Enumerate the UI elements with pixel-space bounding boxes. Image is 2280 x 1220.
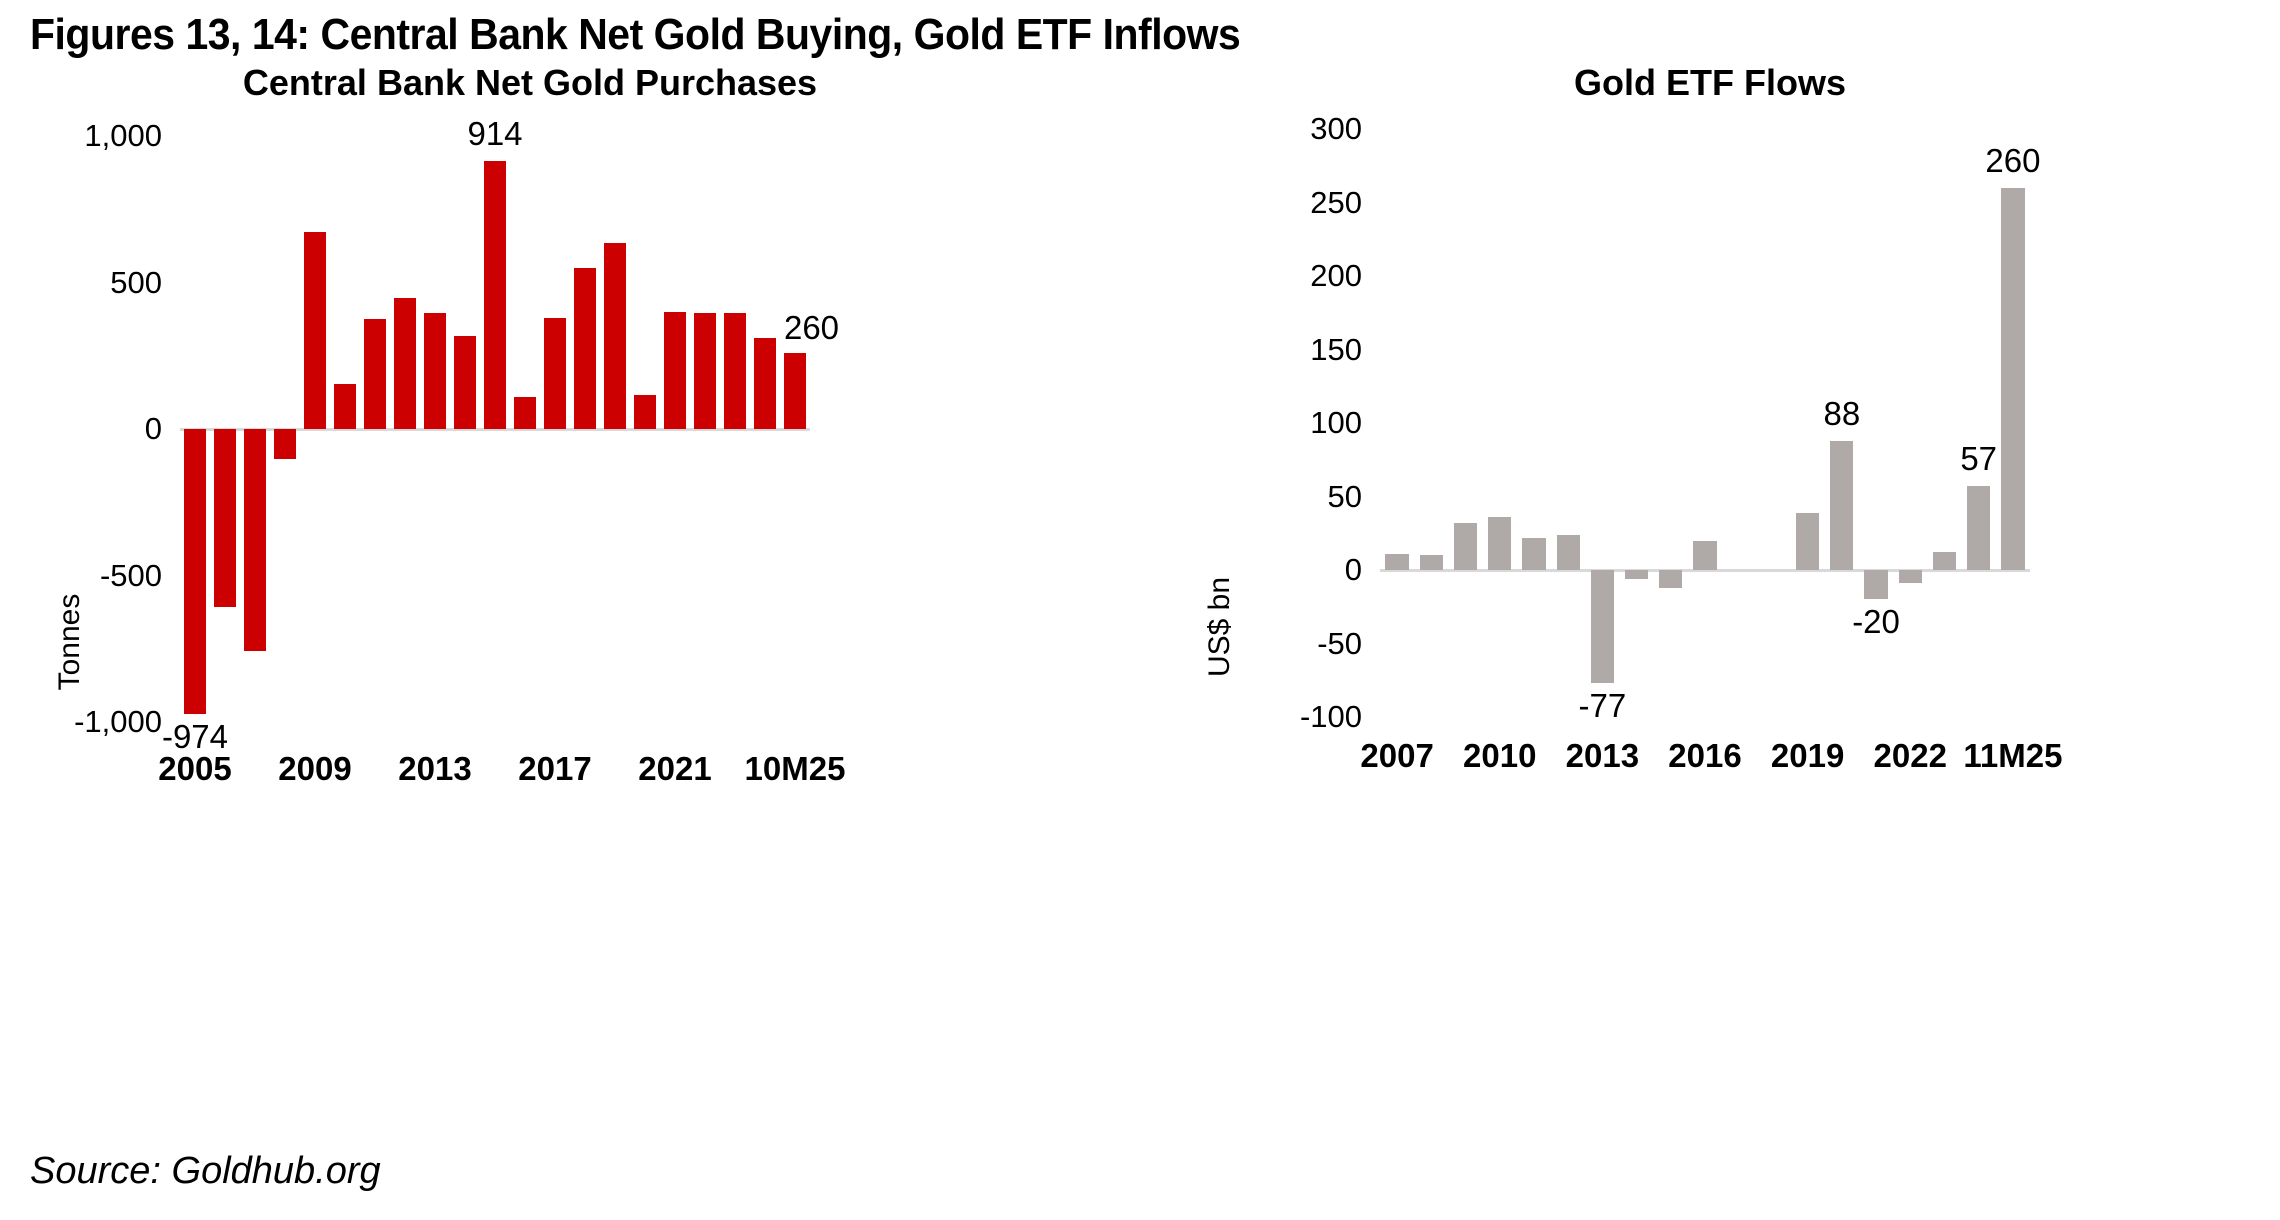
y-axis-tick: -1,000 bbox=[74, 704, 162, 740]
y-axis-tick: 0 bbox=[1345, 552, 1362, 588]
data-label: -974 bbox=[162, 718, 228, 756]
data-label: -20 bbox=[1852, 603, 1900, 641]
y-axis-tick: 200 bbox=[1310, 258, 1362, 294]
bar bbox=[274, 429, 296, 459]
bar bbox=[1830, 441, 1853, 570]
left-chart-title: Central Bank Net Gold Purchases bbox=[0, 62, 1060, 104]
bar bbox=[754, 338, 776, 429]
bar bbox=[1591, 570, 1614, 683]
bar bbox=[2001, 188, 2024, 570]
x-axis-tick: 2019 bbox=[1771, 737, 1844, 775]
bar bbox=[1625, 570, 1648, 579]
bar bbox=[724, 313, 746, 429]
bar bbox=[364, 319, 386, 429]
y-axis-tick: 150 bbox=[1310, 332, 1362, 368]
x-axis-tick: 2007 bbox=[1360, 737, 1433, 775]
bar bbox=[1933, 552, 1956, 570]
bar bbox=[244, 429, 266, 651]
right-plot-area: 300250200150100500-50-100200720102013201… bbox=[1380, 129, 2030, 717]
y-axis-tick: 50 bbox=[1328, 479, 1362, 515]
bar bbox=[514, 397, 536, 429]
x-axis-tick: 2016 bbox=[1668, 737, 1741, 775]
left-y-axis-label: Tonnes bbox=[53, 562, 87, 722]
x-axis-tick: 2013 bbox=[398, 750, 471, 788]
right-chart-title: Gold ETF Flows bbox=[1330, 62, 2090, 104]
bar bbox=[1659, 570, 1682, 588]
bar bbox=[544, 318, 566, 429]
data-label: 260 bbox=[1985, 142, 2040, 180]
bar bbox=[1864, 570, 1887, 599]
x-axis-tick: 2013 bbox=[1566, 737, 1639, 775]
bar bbox=[304, 232, 326, 429]
bar bbox=[394, 298, 416, 429]
bar bbox=[1488, 517, 1511, 570]
y-axis-tick: 100 bbox=[1310, 405, 1362, 441]
y-axis-tick: -50 bbox=[1317, 626, 1362, 662]
bar bbox=[784, 353, 806, 429]
data-label: -77 bbox=[1579, 687, 1627, 725]
bar bbox=[1557, 535, 1580, 570]
bar bbox=[1385, 554, 1408, 570]
bar bbox=[1796, 513, 1819, 570]
x-axis-tick: 2022 bbox=[1874, 737, 1947, 775]
bar bbox=[484, 161, 506, 429]
x-axis-tick: 2010 bbox=[1463, 737, 1536, 775]
bar bbox=[334, 384, 356, 429]
bar bbox=[184, 429, 206, 714]
x-axis-tick: 2021 bbox=[638, 750, 711, 788]
bar bbox=[1522, 538, 1545, 570]
y-axis-tick: -100 bbox=[1300, 699, 1362, 735]
bar bbox=[1420, 555, 1443, 570]
bar bbox=[604, 243, 626, 429]
y-axis-tick: 250 bbox=[1310, 185, 1362, 221]
y-axis-tick: -500 bbox=[100, 558, 162, 594]
bar bbox=[1899, 570, 1922, 583]
y-axis-tick: 0 bbox=[145, 411, 162, 447]
bar bbox=[1693, 541, 1716, 570]
x-axis-tick: 2017 bbox=[518, 750, 591, 788]
data-label: 260 bbox=[784, 309, 839, 347]
bar bbox=[1967, 486, 1990, 570]
source-note: Source: Goldhub.org bbox=[30, 1150, 381, 1193]
x-axis-tick: 11M25 bbox=[1963, 737, 2062, 775]
x-axis-tick: 2009 bbox=[278, 750, 351, 788]
y-axis-tick: 300 bbox=[1310, 111, 1362, 147]
left-plot-area: 1,0005000-500-1,000200520092013201720211… bbox=[180, 136, 810, 722]
bar bbox=[574, 268, 596, 429]
bar bbox=[634, 395, 656, 429]
data-label: 88 bbox=[1823, 395, 1860, 433]
bar bbox=[424, 313, 446, 429]
data-label: 914 bbox=[467, 115, 522, 153]
bar bbox=[214, 429, 236, 607]
bar bbox=[1454, 523, 1477, 570]
y-axis-tick: 1,000 bbox=[84, 118, 162, 154]
right-y-axis-label: US$ bn bbox=[1203, 527, 1237, 727]
bar bbox=[664, 312, 686, 429]
bar bbox=[694, 313, 716, 429]
x-axis-tick: 10M25 bbox=[745, 750, 846, 788]
y-axis-tick: 500 bbox=[110, 265, 162, 301]
bar bbox=[454, 336, 476, 429]
chart-panel-gold-etf: Gold ETF Flows US$ bn 300250200150100500… bbox=[1130, 0, 2280, 1220]
chart-panel-central-bank: Central Bank Net Gold Purchases Tonnes 1… bbox=[0, 0, 1130, 1220]
data-label: 57 bbox=[1960, 440, 1997, 478]
